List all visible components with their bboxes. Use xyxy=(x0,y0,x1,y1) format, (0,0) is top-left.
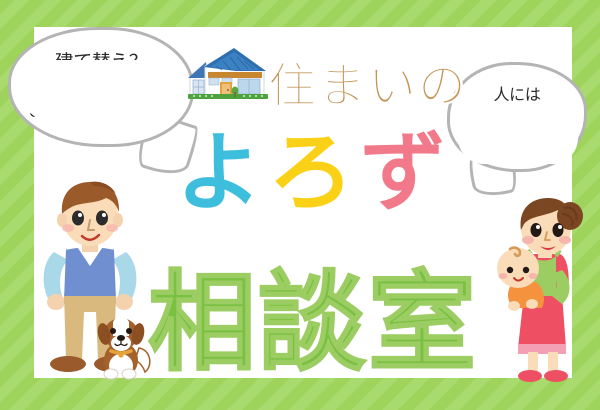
sitting-dog-illustration xyxy=(95,308,157,380)
speech-bubble-left-tail-join xyxy=(22,60,190,122)
banner-canvas: 住まいの よろず 相談室 xyxy=(0,0,600,410)
title-main-text: よろず xyxy=(176,102,452,227)
title-sub-text: 相談室 xyxy=(148,236,478,392)
title-char-ro: ろ xyxy=(268,125,360,221)
speech-bubble-right-tail-join xyxy=(458,108,578,164)
title-char-yo: よ xyxy=(176,125,268,221)
mother-holding-baby-illustration xyxy=(480,196,592,382)
house-with-solar-panels-icon xyxy=(176,44,276,106)
title-char-zu: ず xyxy=(360,125,452,221)
